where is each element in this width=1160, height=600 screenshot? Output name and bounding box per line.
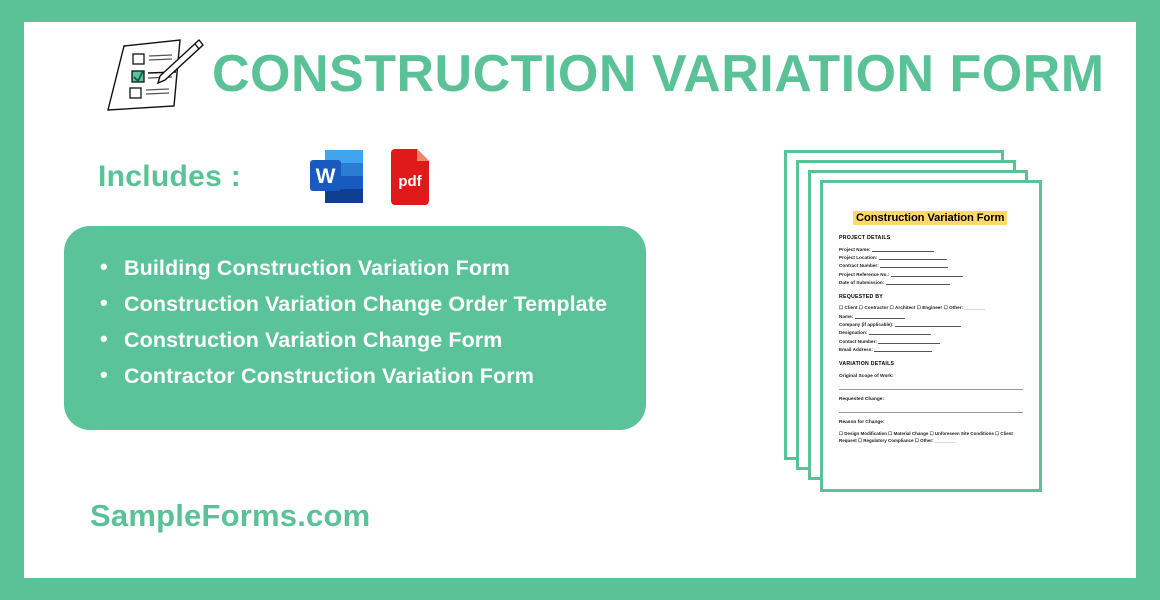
document-reason-checkboxes: ☐ Design Modification ☐ Material Change …: [839, 430, 1023, 445]
field-rule: [891, 271, 963, 277]
document-section-heading: VARIATION DETAILS: [839, 361, 1023, 367]
document-field-label: Requested Change:: [839, 397, 1023, 402]
word-file-icon: W: [309, 148, 365, 206]
document-field-label: Project Reference No.:: [839, 272, 889, 277]
field-rule: [879, 254, 947, 260]
document-field-label: Company (if applicable):: [839, 322, 894, 327]
form-list: Building Construction Variation Form Con…: [98, 250, 616, 394]
document-preview-stack[interactable]: Construction Variation Form PROJECT DETA…: [784, 150, 1084, 500]
list-item[interactable]: Building Construction Variation Form: [98, 250, 616, 286]
field-rule: [872, 246, 934, 252]
document-field: Project Name:: [839, 246, 1023, 252]
document-field-label: Original Scope of Work:: [839, 374, 1023, 379]
includes-row: Includes : W pdf: [98, 138, 433, 216]
answer-rule: [839, 411, 1023, 413]
document-field: Date of Submission:: [839, 279, 1023, 285]
pdf-file-icon: pdf: [387, 149, 433, 205]
field-rule: [895, 321, 961, 327]
document-field-label: Project Location:: [839, 255, 877, 260]
document-field: Project Location:: [839, 254, 1023, 260]
document-field: Name:: [839, 313, 1023, 319]
svg-text:pdf: pdf: [398, 173, 422, 190]
document-field-label: Project Name:: [839, 247, 871, 252]
document-title: Construction Variation Form: [853, 211, 1007, 225]
document-field-label: Name:: [839, 314, 853, 319]
field-rule: [880, 262, 948, 268]
document-field: Email Address:: [839, 346, 1023, 352]
document-field-label: Email Address:: [839, 347, 873, 352]
list-item[interactable]: Construction Variation Change Form: [98, 322, 616, 358]
document-field: Company (if applicable):: [839, 321, 1023, 327]
document-section-heading: PROJECT DETAILS: [839, 235, 1023, 241]
field-rule: [874, 346, 932, 352]
site-brand[interactable]: SampleForms.com: [90, 498, 370, 534]
document-checkbox-line: ☐ Client ☐ Contractor ☐ Architect ☐ Engi…: [839, 305, 1023, 311]
document-field-label: Designation:: [839, 330, 867, 335]
document-field-label: Reason for Change:: [839, 420, 1023, 425]
document-field: Contract Number:: [839, 262, 1023, 268]
document-section-heading: REQUESTED BY: [839, 294, 1023, 300]
list-item[interactable]: Contractor Construction Variation Form: [98, 358, 616, 394]
document-field: Project Reference No.:: [839, 271, 1023, 277]
document-field: Designation:: [839, 329, 1023, 335]
poster-canvas: CONSTRUCTION VARIATION FORM Includes : W: [24, 22, 1136, 578]
answer-rule: [839, 388, 1023, 390]
field-rule: [878, 338, 940, 344]
list-item[interactable]: Construction Variation Change Order Temp…: [98, 286, 616, 322]
svg-text:W: W: [316, 165, 336, 188]
field-rule: [886, 279, 950, 285]
document-field: Contact Number:: [839, 338, 1023, 344]
field-rule: [869, 329, 931, 335]
field-rule: [855, 313, 905, 319]
file-format-icons: W pdf: [309, 148, 433, 206]
document-field-label: Date of Submission:: [839, 280, 884, 285]
includes-list-card: Building Construction Variation Form Con…: [64, 226, 646, 430]
document-field-label: Contract Number:: [839, 263, 879, 268]
page-title: CONSTRUCTION VARIATION FORM: [212, 48, 1105, 100]
includes-label: Includes :: [98, 160, 241, 194]
poster-header: CONSTRUCTION VARIATION FORM: [102, 32, 1105, 116]
document-sheet-front[interactable]: Construction Variation Form PROJECT DETA…: [820, 180, 1042, 492]
poster-root: CONSTRUCTION VARIATION FORM Includes : W: [0, 0, 1160, 600]
document-field-label: Contact Number:: [839, 339, 877, 344]
checklist-pen-icon: [102, 32, 206, 116]
